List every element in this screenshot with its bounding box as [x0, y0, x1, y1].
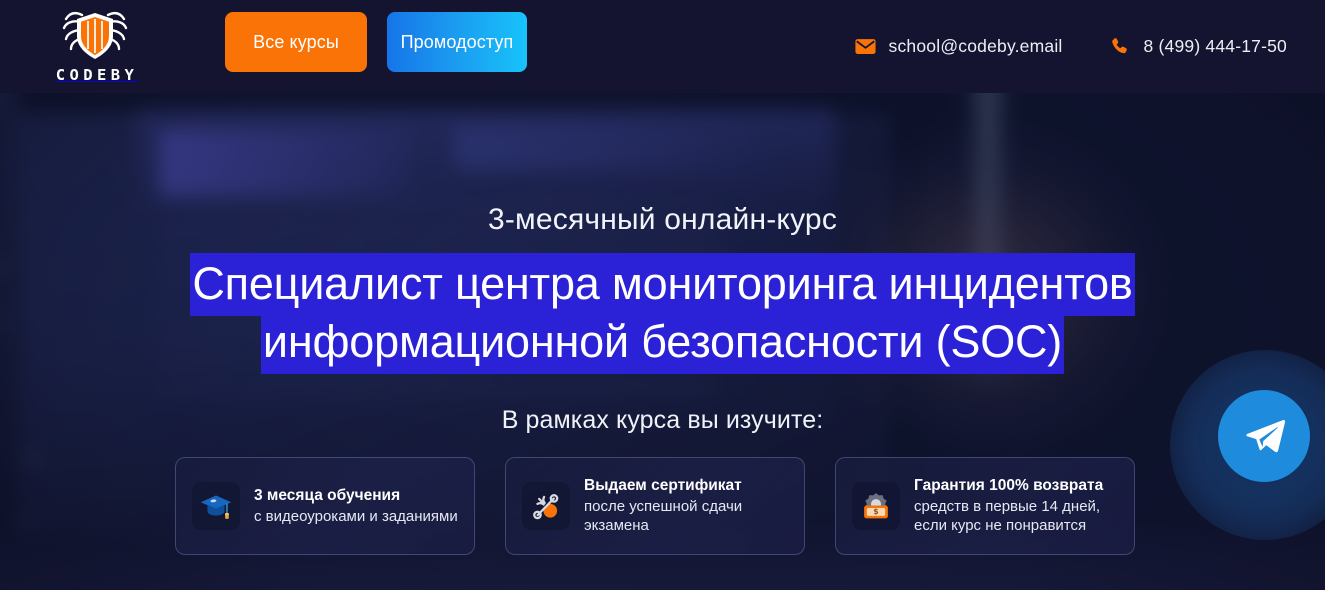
feature-card-duration[interactable]: 3 месяца обучения с видеоуроками и задан… [175, 457, 475, 555]
card-title: Выдаем сертификат [584, 476, 790, 496]
graduation-cap-icon-tile [192, 482, 240, 530]
site-header: CODEBY Все курсы Промодоступ school@code… [0, 0, 1325, 93]
telegram-float-button[interactable] [1218, 390, 1310, 482]
phone-link[interactable]: 8 (499) 444-17-50 [1110, 36, 1288, 57]
certificate-diploma-icon [527, 487, 565, 525]
spider-shield-logo-icon [62, 9, 128, 67]
card-description: после успешной сдачи экзамена [584, 497, 790, 536]
site-logo[interactable]: CODEBY [40, 6, 150, 86]
graduation-cap-icon [197, 487, 235, 525]
envelope-icon [855, 36, 876, 57]
feature-card-duration-text: 3 месяца обучения с видеоуроками и задан… [254, 486, 458, 526]
page-title: Специалист центра мониторинга инцидентов… [0, 255, 1325, 371]
email-link[interactable]: school@codeby.email [855, 36, 1063, 57]
phone-text: 8 (499) 444-17-50 [1144, 36, 1288, 57]
money-back-banknote-icon: $ [857, 487, 895, 525]
hero-content: 3-месячный онлайн-курс Специалист центра… [0, 93, 1325, 590]
logo-wordmark: CODEBY [52, 68, 138, 84]
svg-text:$: $ [873, 507, 878, 516]
card-description: с видеоуроками и заданиями [254, 507, 458, 527]
feature-card-certificate[interactable]: Выдаем сертификат после успешной сдачи э… [505, 457, 805, 555]
hero-eyebrow: 3-месячный онлайн-курс [0, 203, 1325, 237]
card-description: средств в первые 14 дней, если курс не п… [914, 497, 1120, 536]
phone-icon [1110, 36, 1131, 57]
promo-access-button[interactable]: Промодоступ [387, 12, 527, 72]
header-contacts: school@codeby.email 8 (499) 444-17-50 [855, 0, 1287, 93]
page-root: CODEBY Все курсы Промодоступ school@code… [0, 0, 1325, 590]
email-text: school@codeby.email [889, 36, 1063, 57]
headline-line-1: Специалист центра мониторинга инцидентов [190, 253, 1134, 316]
hero-section: 3-месячный онлайн-курс Специалист центра… [0, 93, 1325, 590]
telegram-paper-plane-icon [1243, 414, 1287, 458]
feature-cards: 3 месяца обучения с видеоуроками и задан… [175, 457, 1150, 555]
money-back-icon-tile: $ [852, 482, 900, 530]
card-title: 3 месяца обучения [254, 486, 458, 506]
feature-card-guarantee-text: Гарантия 100% возврата средств в первые … [914, 476, 1120, 536]
card-title: Гарантия 100% возврата [914, 476, 1120, 496]
all-courses-button[interactable]: Все курсы [225, 12, 367, 72]
certificate-icon-tile [522, 482, 570, 530]
feature-card-guarantee[interactable]: $ Гарантия 100% возврата средств в первы… [835, 457, 1135, 555]
hero-subhead: В рамках курса вы изучите: [0, 406, 1325, 435]
headline-line-2: информационной безопасности (SOC) [261, 311, 1064, 374]
feature-card-certificate-text: Выдаем сертификат после успешной сдачи э… [584, 476, 790, 536]
